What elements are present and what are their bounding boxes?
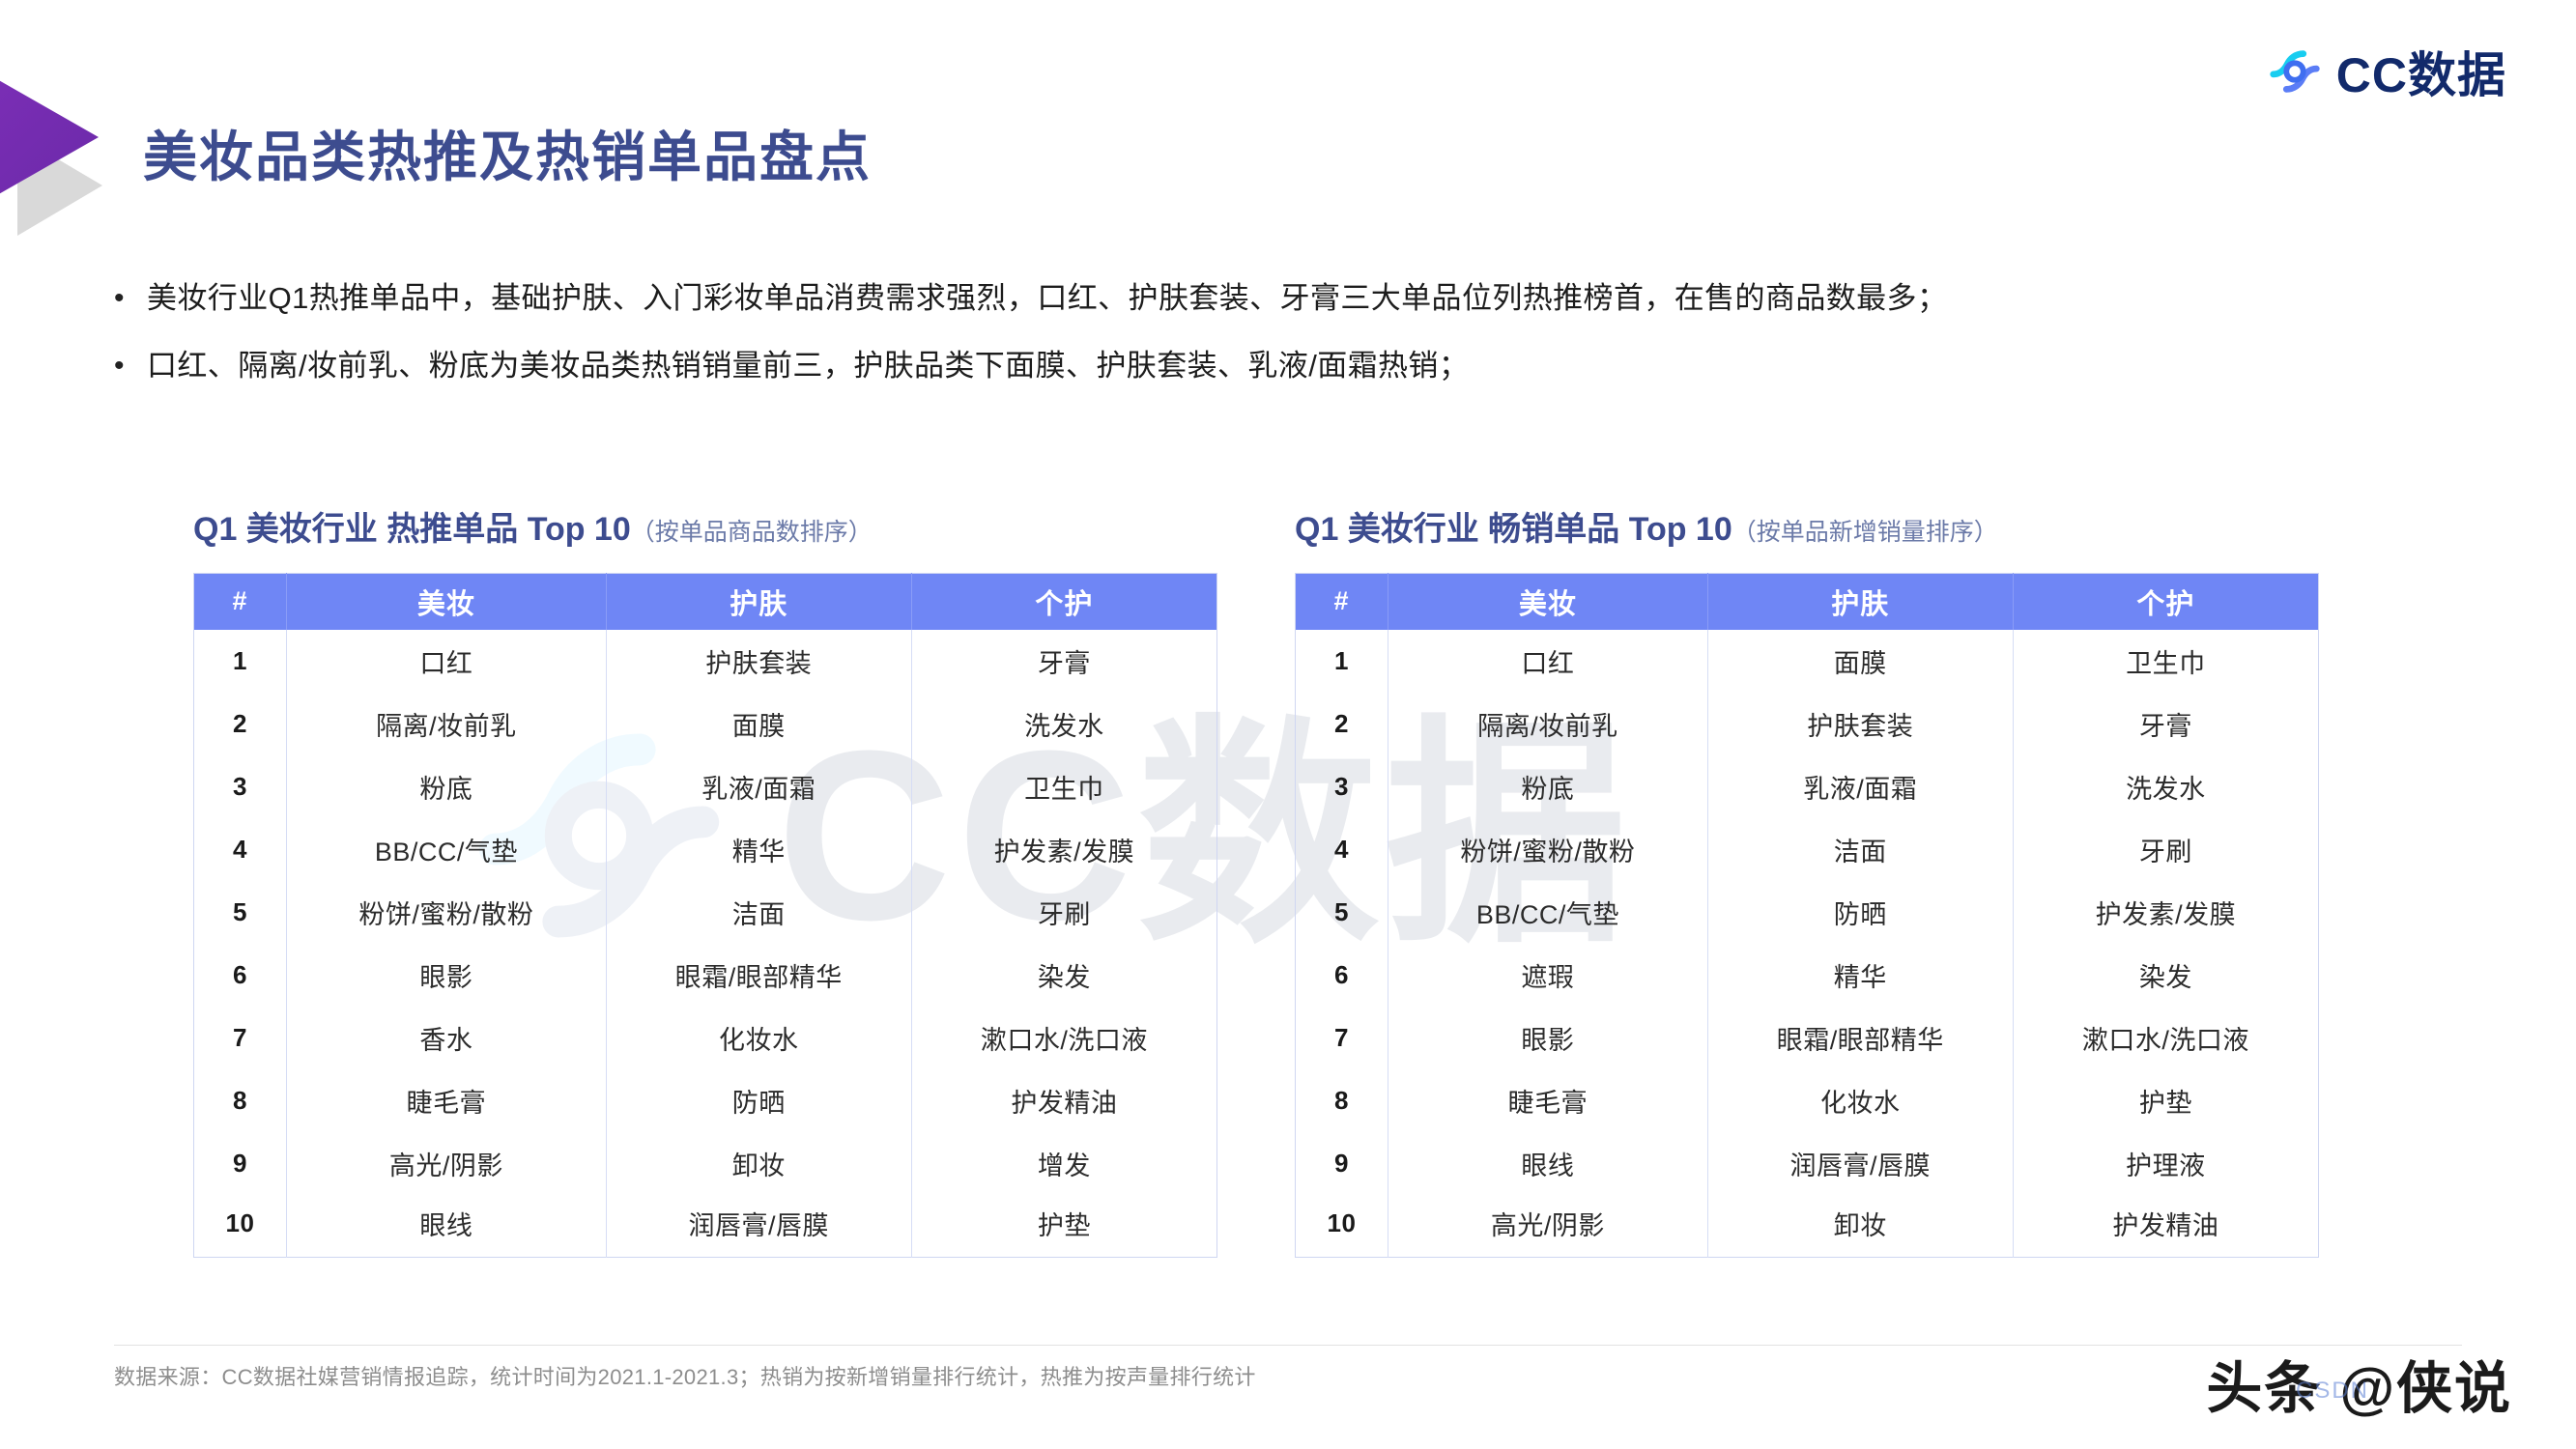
table-title-sub: （按单品新增销量排序）: [1732, 519, 1998, 546]
table-row: 9眼线润唇膏/唇膜护理液: [1296, 1132, 2319, 1195]
table-row: 5BB/CC/气垫防晒护发素/发膜: [1296, 881, 2319, 944]
cell-personalcare: 护垫: [911, 1195, 1216, 1258]
cell-personalcare: 增发: [911, 1132, 1216, 1195]
cell-rank: 9: [1296, 1132, 1388, 1195]
cell-skincare: 洁面: [606, 881, 911, 944]
slide-root: 美妆品类热推及热销单品盘点 CC数据 • 美妆行业Q1热推单品中，基础护肤、入门…: [0, 0, 2576, 1449]
cell-rank: 4: [1296, 818, 1388, 881]
col-header-skincare: 护肤: [606, 574, 911, 630]
cell-personalcare: 护发素/发膜: [2013, 881, 2318, 944]
cell-skincare: 润唇膏/唇膜: [606, 1195, 911, 1258]
col-header-rank: #: [1296, 574, 1388, 630]
cell-rank: 1: [1296, 630, 1388, 693]
table-row: 8睫毛膏防晒护发精油: [194, 1069, 1217, 1132]
table-row: 10高光/阴影卸妆护发精油: [1296, 1195, 2319, 1258]
cell-personalcare: 护发素/发膜: [911, 818, 1216, 881]
page-title: 美妆品类热推及热销单品盘点: [143, 114, 872, 192]
col-header-makeup: 美妆: [1388, 574, 1708, 630]
bullet-text: 口红、隔离/妆前乳、粉底为美妆品类热销销量前三，护肤品类下面膜、护肤套装、乳液/…: [147, 344, 1469, 388]
cell-makeup: BB/CC/气垫: [1388, 881, 1708, 944]
cell-skincare: 润唇膏/唇膜: [1707, 1132, 2013, 1195]
table-block-best-seller: Q1 美妆行业 畅销单品 Top 10（按单品新增销量排序） # 美妆 护肤 个…: [1295, 502, 2319, 1258]
col-header-personalcare: 个护: [2013, 574, 2318, 630]
cell-skincare: 化妆水: [1707, 1069, 2013, 1132]
cell-personalcare: 护垫: [2013, 1069, 2318, 1132]
table-row: 9高光/阴影卸妆增发: [194, 1132, 1217, 1195]
cell-rank: 2: [194, 693, 287, 755]
cell-personalcare: 染发: [2013, 944, 2318, 1007]
bullet-item: • 口红、隔离/妆前乳、粉底为美妆品类热销销量前三，护肤品类下面膜、护肤套装、乳…: [114, 344, 2433, 388]
table-header-row: # 美妆 护肤 个护: [194, 574, 1217, 630]
cell-personalcare: 洗发水: [911, 693, 1216, 755]
cell-makeup: 粉饼/蜜粉/散粉: [1388, 818, 1708, 881]
cell-makeup: 睫毛膏: [287, 1069, 607, 1132]
cell-skincare: 面膜: [606, 693, 911, 755]
logo-text: CC数据: [2336, 37, 2506, 106]
cell-rank: 3: [1296, 755, 1388, 818]
cell-personalcare: 护理液: [2013, 1132, 2318, 1195]
rank-table-hot-push: # 美妆 护肤 个护 1口红护肤套装牙膏 2隔离/妆前乳面膜洗发水 3粉底乳液/…: [193, 573, 1217, 1258]
toutiao-watermark-sub: CSDN: [2296, 1378, 2369, 1405]
cell-rank: 8: [1296, 1069, 1388, 1132]
cell-rank: 10: [194, 1195, 287, 1258]
cell-skincare: 精华: [606, 818, 911, 881]
cell-skincare: 精华: [1707, 944, 2013, 1007]
table-row: 1口红面膜卫生巾: [1296, 630, 2319, 693]
cell-makeup: 香水: [287, 1007, 607, 1069]
bullet-marker-icon: •: [114, 276, 147, 321]
cell-makeup: 睫毛膏: [1388, 1069, 1708, 1132]
cell-personalcare: 牙刷: [911, 881, 1216, 944]
cell-skincare: 卸妆: [1707, 1195, 2013, 1258]
table-row: 1口红护肤套装牙膏: [194, 630, 1217, 693]
cell-skincare: 防晒: [606, 1069, 911, 1132]
rank-table-best-seller: # 美妆 护肤 个护 1口红面膜卫生巾 2隔离/妆前乳护肤套装牙膏 3粉底乳液/…: [1295, 573, 2319, 1258]
table-row: 6遮瑕精华染发: [1296, 944, 2319, 1007]
cell-rank: 1: [194, 630, 287, 693]
table-row: 4BB/CC/气垫精华护发素/发膜: [194, 818, 1217, 881]
col-header-makeup: 美妆: [287, 574, 607, 630]
cell-skincare: 眼霜/眼部精华: [606, 944, 911, 1007]
cell-makeup: 高光/阴影: [287, 1132, 607, 1195]
table-block-hot-push: Q1 美妆行业 热推单品 Top 10（按单品商品数排序） # 美妆 护肤 个护…: [193, 502, 1217, 1258]
cell-makeup: 眼影: [287, 944, 607, 1007]
cell-makeup: 眼线: [1388, 1132, 1708, 1195]
cell-skincare: 化妆水: [606, 1007, 911, 1069]
cell-rank: 7: [1296, 1007, 1388, 1069]
table-row: 3粉底乳液/面霜卫生巾: [194, 755, 1217, 818]
table-title-main: Q1 美妆行业 热推单品 Top 10: [193, 511, 631, 548]
cell-skincare: 防晒: [1707, 881, 2013, 944]
cell-makeup: 隔离/妆前乳: [1388, 693, 1708, 755]
footer-divider: [114, 1345, 2462, 1346]
cell-makeup: 粉饼/蜜粉/散粉: [287, 881, 607, 944]
table-row: 2隔离/妆前乳面膜洗发水: [194, 693, 1217, 755]
col-header-personalcare: 个护: [911, 574, 1216, 630]
cell-rank: 6: [194, 944, 287, 1007]
table-row: 6眼影眼霜/眼部精华染发: [194, 944, 1217, 1007]
cell-personalcare: 护发精油: [2013, 1195, 2318, 1258]
cell-skincare: 乳液/面霜: [1707, 755, 2013, 818]
cell-personalcare: 护发精油: [911, 1069, 1216, 1132]
col-header-rank: #: [194, 574, 287, 630]
cell-makeup: 粉底: [1388, 755, 1708, 818]
cell-skincare: 卸妆: [606, 1132, 911, 1195]
cell-makeup: 口红: [287, 630, 607, 693]
cell-personalcare: 漱口水/洗口液: [911, 1007, 1216, 1069]
table-row: 3粉底乳液/面霜洗发水: [1296, 755, 2319, 818]
cell-makeup: 遮瑕: [1388, 944, 1708, 1007]
data-source-note: 数据来源：CC数据社媒营销情报追踪，统计时间为2021.1-2021.3；热销为…: [114, 1360, 1256, 1391]
bullet-item: • 美妆行业Q1热推单品中，基础护肤、入门彩妆单品消费需求强烈，口红、护肤套装、…: [114, 276, 2433, 321]
cell-rank: 5: [194, 881, 287, 944]
table-row: 4粉饼/蜜粉/散粉洁面牙刷: [1296, 818, 2319, 881]
table-row: 8睫毛膏化妆水护垫: [1296, 1069, 2319, 1132]
cc-logo-icon: [2265, 42, 2325, 101]
cell-rank: 2: [1296, 693, 1388, 755]
cell-rank: 7: [194, 1007, 287, 1069]
cell-rank: 10: [1296, 1195, 1388, 1258]
table-header-row: # 美妆 护肤 个护: [1296, 574, 2319, 630]
cell-skincare: 洁面: [1707, 818, 2013, 881]
table-title-best-seller: Q1 美妆行业 畅销单品 Top 10（按单品新增销量排序）: [1295, 502, 2319, 550]
cell-rank: 8: [194, 1069, 287, 1132]
bullet-marker-icon: •: [114, 344, 147, 388]
arrow-decoration: [0, 60, 145, 214]
cell-personalcare: 漱口水/洗口液: [2013, 1007, 2318, 1069]
cell-makeup: 眼影: [1388, 1007, 1708, 1069]
col-header-skincare: 护肤: [1707, 574, 2013, 630]
table-row: 7香水化妆水漱口水/洗口液: [194, 1007, 1217, 1069]
cell-skincare: 眼霜/眼部精华: [1707, 1007, 2013, 1069]
cell-skincare: 乳液/面霜: [606, 755, 911, 818]
cell-makeup: 口红: [1388, 630, 1708, 693]
cell-personalcare: 牙膏: [911, 630, 1216, 693]
cell-rank: 9: [194, 1132, 287, 1195]
cell-personalcare: 牙刷: [2013, 818, 2318, 881]
table-row: 7眼影眼霜/眼部精华漱口水/洗口液: [1296, 1007, 2319, 1069]
bullet-text: 美妆行业Q1热推单品中，基础护肤、入门彩妆单品消费需求强烈，口红、护肤套装、牙膏…: [147, 276, 1947, 321]
table-title-hot-push: Q1 美妆行业 热推单品 Top 10（按单品商品数排序）: [193, 502, 1217, 550]
table-row: 2隔离/妆前乳护肤套装牙膏: [1296, 693, 2319, 755]
cell-personalcare: 洗发水: [2013, 755, 2318, 818]
table-title-sub: （按单品商品数排序）: [631, 519, 873, 546]
cell-personalcare: 牙膏: [2013, 693, 2318, 755]
cell-makeup: 眼线: [287, 1195, 607, 1258]
cell-rank: 3: [194, 755, 287, 818]
cell-makeup: 高光/阴影: [1388, 1195, 1708, 1258]
cell-skincare: 护肤套装: [606, 630, 911, 693]
table-row: 10眼线润唇膏/唇膜护垫: [194, 1195, 1217, 1258]
table-title-main: Q1 美妆行业 畅销单品 Top 10: [1295, 511, 1732, 548]
cell-personalcare: 染发: [911, 944, 1216, 1007]
cell-personalcare: 卫生巾: [2013, 630, 2318, 693]
brand-logo: CC数据: [2265, 37, 2506, 106]
cell-rank: 4: [194, 818, 287, 881]
cell-skincare: 面膜: [1707, 630, 2013, 693]
cell-makeup: 粉底: [287, 755, 607, 818]
cell-rank: 6: [1296, 944, 1388, 1007]
cell-rank: 5: [1296, 881, 1388, 944]
cell-skincare: 护肤套装: [1707, 693, 2013, 755]
summary-bullets: • 美妆行业Q1热推单品中，基础护肤、入门彩妆单品消费需求强烈，口红、护肤套装、…: [114, 276, 2433, 412]
table-row: 5粉饼/蜜粉/散粉洁面牙刷: [194, 881, 1217, 944]
cell-personalcare: 卫生巾: [911, 755, 1216, 818]
cell-makeup: BB/CC/气垫: [287, 818, 607, 881]
cell-makeup: 隔离/妆前乳: [287, 693, 607, 755]
